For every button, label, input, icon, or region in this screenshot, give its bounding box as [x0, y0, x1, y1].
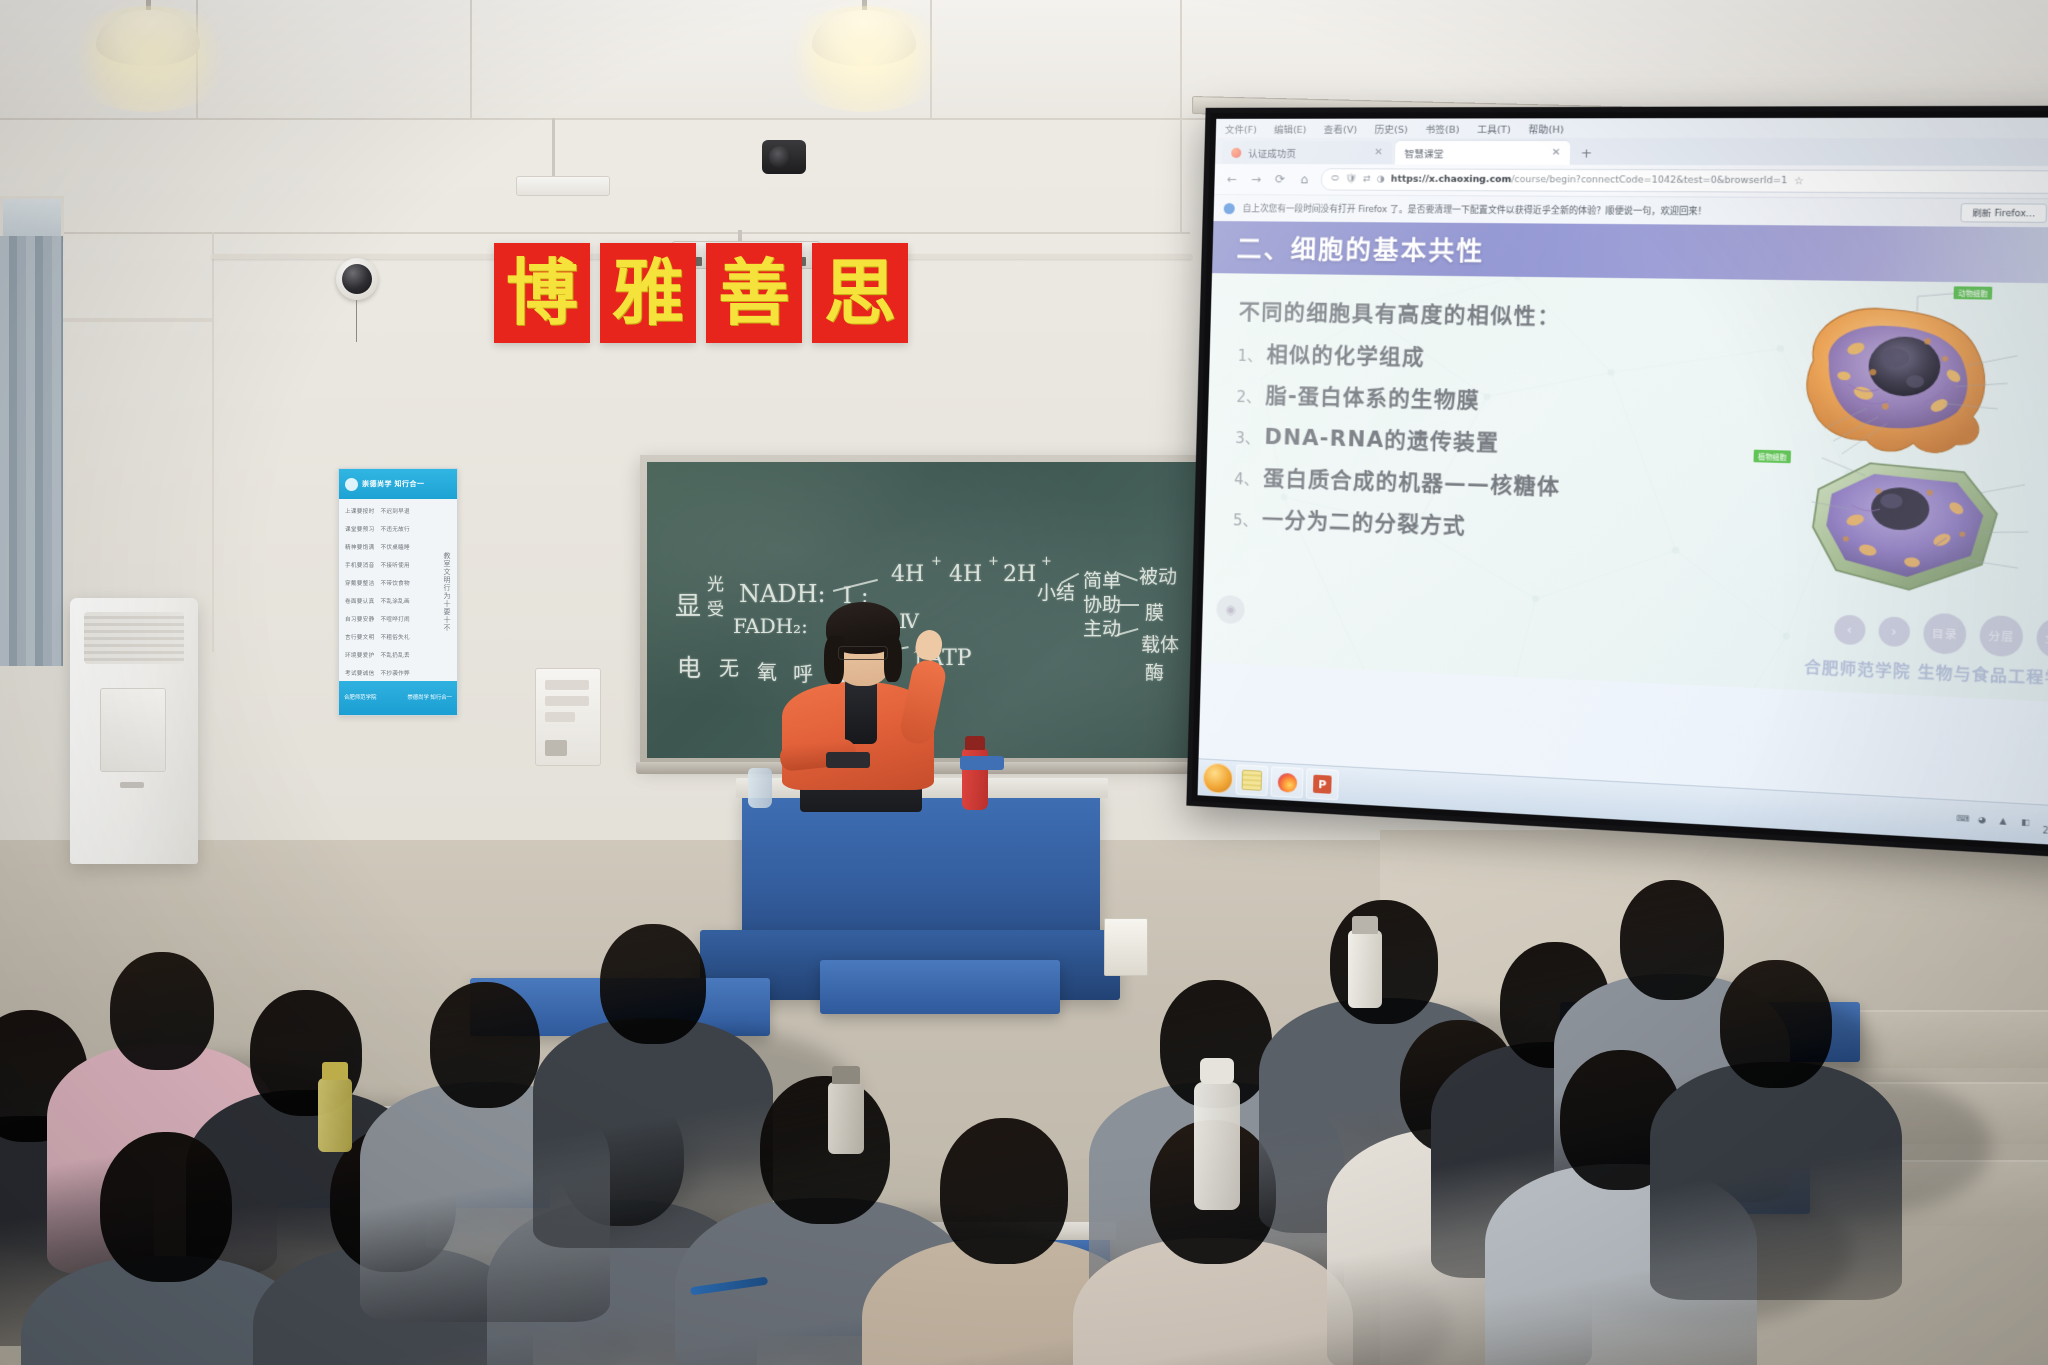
plant-cell-label: 植物细胞: [1753, 450, 1791, 464]
poster-rule-row: 精神要饱满不伏桌瞌睡: [345, 543, 425, 551]
home-button[interactable]: ⌂: [1297, 172, 1313, 186]
upper-wall-band: [0, 0, 2048, 120]
poster-rule-row: 考试要诚信不抄袭作弊: [345, 669, 425, 677]
chalk-text: 主动: [1083, 614, 1121, 641]
menu-item-帮助H[interactable]: 帮助(H): [1528, 121, 1564, 135]
poster-rule-text: 不迟到早退: [380, 507, 409, 515]
chalk-text: 氧: [757, 656, 777, 685]
chalk-stroke: [1117, 604, 1139, 606]
browser-tab[interactable]: 智慧课堂✕: [1395, 141, 1571, 165]
chalk-text: Ⅳ: [899, 609, 919, 633]
next-slide-button[interactable]: ›: [1878, 616, 1910, 647]
wall-speaker: [762, 140, 806, 174]
bottle-cap: [322, 1062, 348, 1080]
info-icon: [1224, 203, 1235, 214]
chalk-text: 2H: [1003, 562, 1036, 587]
menu-item-工具T[interactable]: 工具(T): [1477, 121, 1511, 135]
banner-character: 思: [812, 243, 908, 343]
forward-button[interactable]: →: [1248, 172, 1263, 186]
tab-label: 认证成功页: [1248, 145, 1296, 159]
notification-text: 自上次您有一段时间没有打开 Firefox 了。是否要清理一下配置文件以获得近乎…: [1243, 202, 1708, 217]
poster-foot-right: 崇德尚学 知行合一: [407, 694, 452, 702]
poster-rule-row: 环境要爱护不乱扔乱丢: [345, 651, 425, 659]
ime-icon[interactable]: ◕: [1978, 815, 1992, 829]
reload-button[interactable]: ⟳: [1272, 172, 1287, 186]
poster-rule-text: 课堂要预习: [345, 525, 374, 533]
projected-desktop: 文件(F)编辑(E)查看(V)历史(S)书签(B)工具(T)帮助(H) 认证成功…: [1198, 117, 2048, 846]
wall-seam: [212, 232, 214, 652]
poster-body: 上课要按时不迟到早退课堂要预习不违无故行精神要饱满不伏桌瞌睡手机要消音不接听使用…: [339, 499, 457, 681]
teacher-inner-top: [845, 678, 877, 744]
poster-rule-row: 言行要文明不粗俗失礼: [345, 633, 425, 641]
poster-side-label: 教室文明行为十要十不: [429, 507, 451, 677]
refresh-firefox-button[interactable]: 刷新 Firefox…: [1961, 203, 2047, 223]
taskbar-clock[interactable]: 15:4 2024/4: [2042, 814, 2048, 838]
bullet-number: 1、: [1237, 345, 1262, 367]
back-button[interactable]: ←: [1224, 172, 1239, 186]
bullet-number: 2、: [1236, 386, 1261, 408]
bullet-text: 蛋白质合成的机器——核糖体: [1263, 462, 1561, 501]
animal-cell-illustration: [1805, 308, 1987, 454]
tab-close-icon[interactable]: ✕: [1552, 147, 1561, 158]
bullet-text: 相似的化学组成: [1266, 338, 1425, 371]
system-tray[interactable]: ⌨ ◕ ▲ ◧ 15:4 2024/4: [1956, 809, 2048, 838]
poster-rule-text: 上课要按时: [345, 507, 374, 515]
bullet-number: 5、: [1233, 509, 1258, 531]
student-head: [1720, 960, 1832, 1088]
poster-rule-text: 自习要安静: [345, 615, 374, 623]
chalk-text: 4H: [949, 562, 982, 587]
browser-navbar[interactable]: ← → ⟳ ⌂ ⬭ 🛡 ⇄ ◑ https://x.chaoxing.com/c…: [1214, 164, 2048, 199]
browser-menubar[interactable]: 文件(F)编辑(E)查看(V)历史(S)书签(B)工具(T)帮助(H): [1216, 117, 2048, 138]
bullet-number: 4、: [1234, 468, 1259, 490]
student-head: [100, 1132, 232, 1282]
plant-cell-illustration: [1811, 462, 1998, 593]
projection-screen-frame: 文件(F)编辑(E)查看(V)历史(S)书签(B)工具(T)帮助(H) 认证成功…: [1186, 106, 2048, 860]
teacher-hair-side: [824, 636, 844, 684]
bullet-number: 3、: [1235, 427, 1260, 449]
chalk-text: 协助: [1083, 590, 1121, 617]
keyboard-icon[interactable]: ⌨: [1956, 814, 1970, 828]
camera-wire: [356, 300, 357, 342]
tab-favicon-icon: [1231, 147, 1241, 157]
poster-title: 崇德尚学 知行合一: [362, 479, 424, 489]
animal-cell-label: 动物细胞: [1954, 286, 1993, 299]
menu-item-历史S[interactable]: 历史(S): [1374, 122, 1408, 136]
water-bottle-large: [1194, 1082, 1240, 1210]
chalk-text: 受: [707, 595, 724, 620]
desk-item: [960, 756, 1004, 770]
poster-rule-text: 不抄袭作弊: [380, 669, 409, 677]
chalk-text: +: [931, 554, 942, 569]
poster-rule-text: 不乱扔乱丢: [380, 651, 409, 659]
banner-character-glyph: 思: [824, 257, 896, 329]
poster-rule-text: 不伏桌瞌睡: [380, 543, 409, 551]
poster-rule-row: 自习要安静不喧哗打闹: [345, 615, 425, 623]
banner-character: 雅: [600, 243, 696, 343]
thermos-cap: [832, 1066, 860, 1084]
thermos: [828, 1082, 864, 1154]
wall-seam: [1180, 0, 1182, 232]
camera-lens-icon: [342, 264, 372, 294]
lamp-glow: [776, 6, 954, 112]
tab-label: 智慧课堂: [1404, 146, 1444, 160]
bullet-text: DNA-RNA的遗传装置: [1264, 421, 1500, 458]
student-head: [1330, 900, 1438, 1024]
poster-rule-text: 言行要文明: [345, 633, 374, 641]
chalk-text: FADH₂:: [733, 614, 808, 638]
poster-rule-row: 手机要消音不接听使用: [345, 561, 425, 569]
poster-rule-row: 上课要按时不迟到早退: [345, 507, 425, 515]
shield-icon: ⬭: [1331, 174, 1339, 184]
chalk-text: 呼: [793, 658, 813, 687]
poster-rule-row: 穿戴要整洁不带饮食物: [345, 579, 425, 587]
poster-rule-text: 穿戴要整洁: [345, 579, 374, 587]
banner-character-glyph: 善: [718, 257, 790, 329]
chalk-text: 酶: [1145, 658, 1164, 685]
powerpoint-icon[interactable]: P: [1306, 768, 1339, 800]
student-head: [940, 1118, 1068, 1264]
student-head: [430, 982, 540, 1108]
chalk-text: 显: [675, 586, 701, 623]
cell-diagram-svg: [1743, 282, 2048, 609]
student-head: [760, 1076, 890, 1224]
poster-rule-row: 卷面要认真不乱涂乱画: [345, 597, 425, 605]
chalk-stroke: [833, 579, 878, 592]
slide-title-text: 二、细胞的基本共性: [1236, 229, 1485, 268]
url-bar[interactable]: ⬭ 🛡 ⇄ ◑ https://x.chaoxing.com/course/be…: [1321, 168, 2048, 194]
student-head: [110, 952, 214, 1070]
poster-foot-left: 合肥师范学院: [344, 694, 376, 702]
control-box-knob[interactable]: [545, 740, 567, 756]
water-bottle: [318, 1078, 352, 1152]
start-button-icon[interactable]: [1203, 763, 1234, 795]
control-box-slot: [545, 696, 589, 706]
sync-icon: ⇄: [1363, 174, 1371, 184]
poster-rule-text: 不喧哗打闹: [380, 615, 409, 623]
window-curtain: [0, 236, 63, 666]
chalk-text: 4H: [891, 562, 924, 587]
student-torso: [1650, 1062, 1902, 1300]
poster-footer: 合肥师范学院 崇德尚学 知行合一: [339, 681, 457, 715]
prev-slide-button[interactable]: ‹: [1834, 614, 1866, 645]
book-stack: [1104, 918, 1148, 976]
banner-character-glyph: 博: [506, 257, 578, 329]
poster-header: 崇德尚学 知行合一: [339, 469, 457, 499]
firefox-icon[interactable]: [1270, 766, 1303, 798]
layers-button[interactable]: 分层: [1979, 615, 2023, 657]
control-box-slot: [545, 680, 589, 690]
poster-rule-text: 不粗俗失礼: [380, 633, 409, 641]
projector-mount: [516, 176, 610, 196]
poster-rule-text: 不乱涂乱画: [380, 597, 409, 605]
chalk-text: 被动: [1139, 562, 1177, 589]
lamp-glow: [60, 6, 238, 112]
menu-item-书签B[interactable]: 书签(B): [1425, 122, 1459, 136]
ac-display-panel: [100, 688, 166, 772]
chalk-text: NADH:: [739, 580, 826, 608]
menu-item-文件F[interactable]: 文件(F): [1225, 122, 1257, 136]
bottle-cap: [1200, 1058, 1234, 1084]
chalk-text: 小结: [1037, 578, 1075, 605]
student-head: [1620, 880, 1724, 1000]
menu-item-编辑E[interactable]: 编辑(E): [1274, 122, 1307, 136]
cell-diagram: 动物细胞 植物细胞: [1743, 282, 2048, 609]
bookmark-star-icon[interactable]: ☆: [1794, 175, 1804, 187]
wall-seam: [470, 0, 472, 118]
chalk-text: 载体: [1141, 630, 1179, 657]
chalk-text: 膜: [1145, 598, 1164, 625]
poster-logo-icon: [345, 478, 358, 491]
chalk-text: +: [1041, 554, 1052, 569]
poster-rule-text: 精神要饱满: [345, 543, 374, 551]
control-box-slot: [545, 712, 575, 722]
teacher-hair-side: [884, 636, 902, 682]
chalk-text: +: [988, 554, 999, 569]
banner-character: 善: [706, 243, 802, 343]
classroom-rules-poster: 崇德尚学 知行合一 上课要按时不迟到早退课堂要预习不违无故行精神要饱满不伏桌瞌睡…: [338, 468, 458, 716]
floor-ac-unit: [70, 598, 198, 864]
volume-icon[interactable]: ◧: [2021, 817, 2035, 831]
poster-rule-text: 环境要爱护: [345, 651, 374, 659]
banner-character: 博: [494, 243, 590, 343]
new-tab-button[interactable]: +: [1573, 146, 1600, 165]
glasses-icon: [838, 646, 888, 660]
poster-rule-row: 课堂要预习不违无故行: [345, 525, 425, 533]
notes-icon[interactable]: [1235, 764, 1268, 796]
show-hidden-icons-icon[interactable]: ▲: [1999, 816, 2013, 830]
ac-grill: [84, 612, 184, 664]
fullscreen-button[interactable]: 全屏: [2036, 617, 2048, 660]
thermos-cap: [1352, 916, 1378, 934]
poster-rule-text: 不接听使用: [380, 561, 409, 569]
chalk-text: 无: [719, 652, 739, 681]
clock-date: 2024/4: [2042, 825, 2048, 838]
ppt-glyph: P: [1313, 775, 1332, 794]
toc-button[interactable]: 目录: [1923, 613, 1967, 655]
poster-rule-text: 不带饮食物: [380, 579, 409, 587]
thermos: [1348, 930, 1382, 1008]
browser-tab[interactable]: 认证成功页✕: [1222, 141, 1392, 164]
poster-rule-list: 上课要按时不迟到早退课堂要预习不违无故行精神要饱满不伏桌瞌睡手机要消音不接听使用…: [345, 507, 425, 677]
student-desk: [820, 960, 1060, 1014]
lock-icon: 🛡: [1345, 174, 1357, 184]
chalk-text: 光: [707, 570, 724, 595]
slide-canvas: 二、细胞的基本共性 不同的细胞具有高度的相似性： 1、相似的化学组成2、脂-蛋白…: [1201, 221, 2048, 703]
browser-tabstrip[interactable]: 认证成功页✕智慧课堂✕+: [1215, 138, 2048, 166]
chalk-text: 简单: [1083, 566, 1121, 593]
browser-chrome: 文件(F)编辑(E)查看(V)历史(S)书签(B)工具(T)帮助(H) 认证成功…: [1213, 117, 2048, 227]
poster-rule-text: 手机要消音: [345, 561, 374, 569]
poster-rule-text: 考试要诚信: [345, 669, 374, 677]
menu-item-查看V[interactable]: 查看(V): [1324, 122, 1358, 136]
classroom-photo: 博雅善思 崇德尚学 知行合一 上课要按时不迟到早退课堂要预习不违无故行精神要饱满…: [0, 0, 2048, 1365]
student-head: [600, 924, 706, 1044]
bullet-text: 脂-蛋白体系的生物膜: [1265, 379, 1480, 414]
wall-seam: [0, 232, 1190, 234]
ac-led: [120, 782, 144, 788]
poster-rule-text: 不违无故行: [380, 525, 409, 533]
url-text: https://x.chaoxing.com/course/begin?conn…: [1391, 175, 1788, 187]
water-cup: [748, 768, 772, 808]
teacher-held-device: [826, 752, 870, 768]
chalk-text: 电: [677, 648, 701, 683]
poster-rule-text: 卷面要认真: [345, 597, 374, 605]
tab-close-icon[interactable]: ✕: [1374, 147, 1383, 158]
banner-character-glyph: 雅: [612, 257, 684, 329]
bottle-cap: [965, 736, 985, 750]
reader-icon: ◑: [1377, 174, 1385, 184]
